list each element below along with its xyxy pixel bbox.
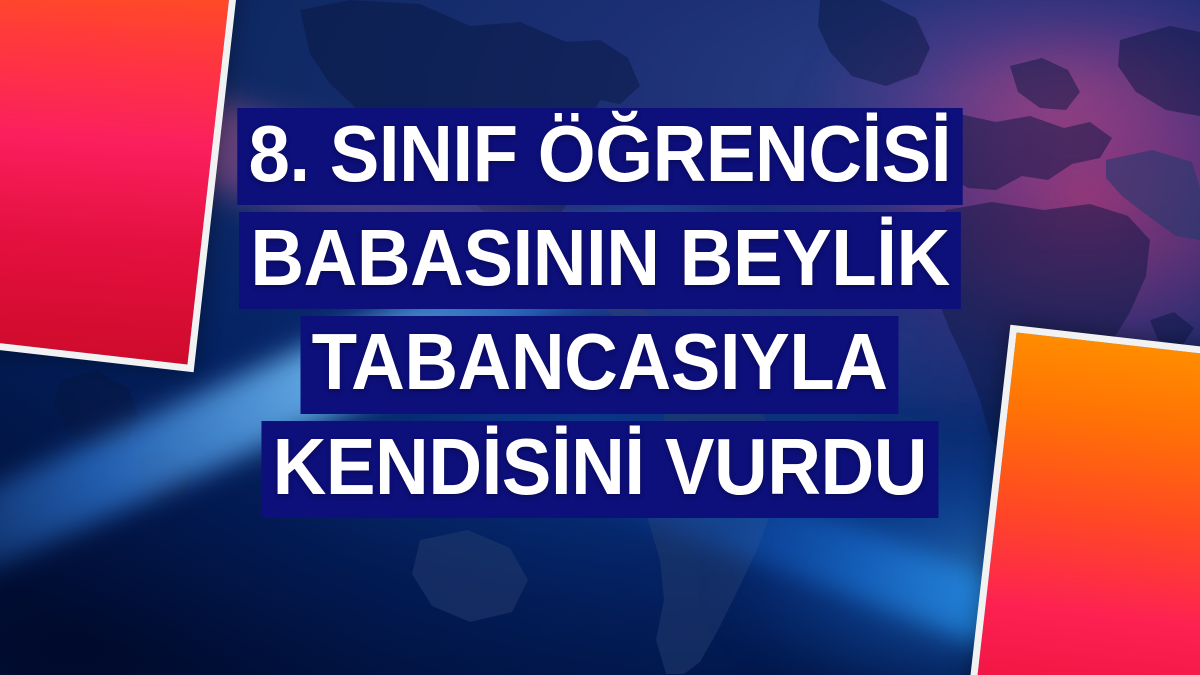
headline-line-3: TABANCASIYLA xyxy=(301,316,899,413)
headline-block: 8. SINIF ÖĞRENCİSİ BABASININ BEYLİK TABA… xyxy=(0,108,1200,525)
headline-line-4: KENDİSİNİ VURDU xyxy=(262,421,939,518)
headline-line-2: BABASININ BEYLİK xyxy=(239,212,961,309)
headline-line-1: 8. SINIF ÖĞRENCİSİ xyxy=(237,108,962,205)
headline-graphic: 8. SINIF ÖĞRENCİSİ BABASININ BEYLİK TABA… xyxy=(0,0,1200,675)
